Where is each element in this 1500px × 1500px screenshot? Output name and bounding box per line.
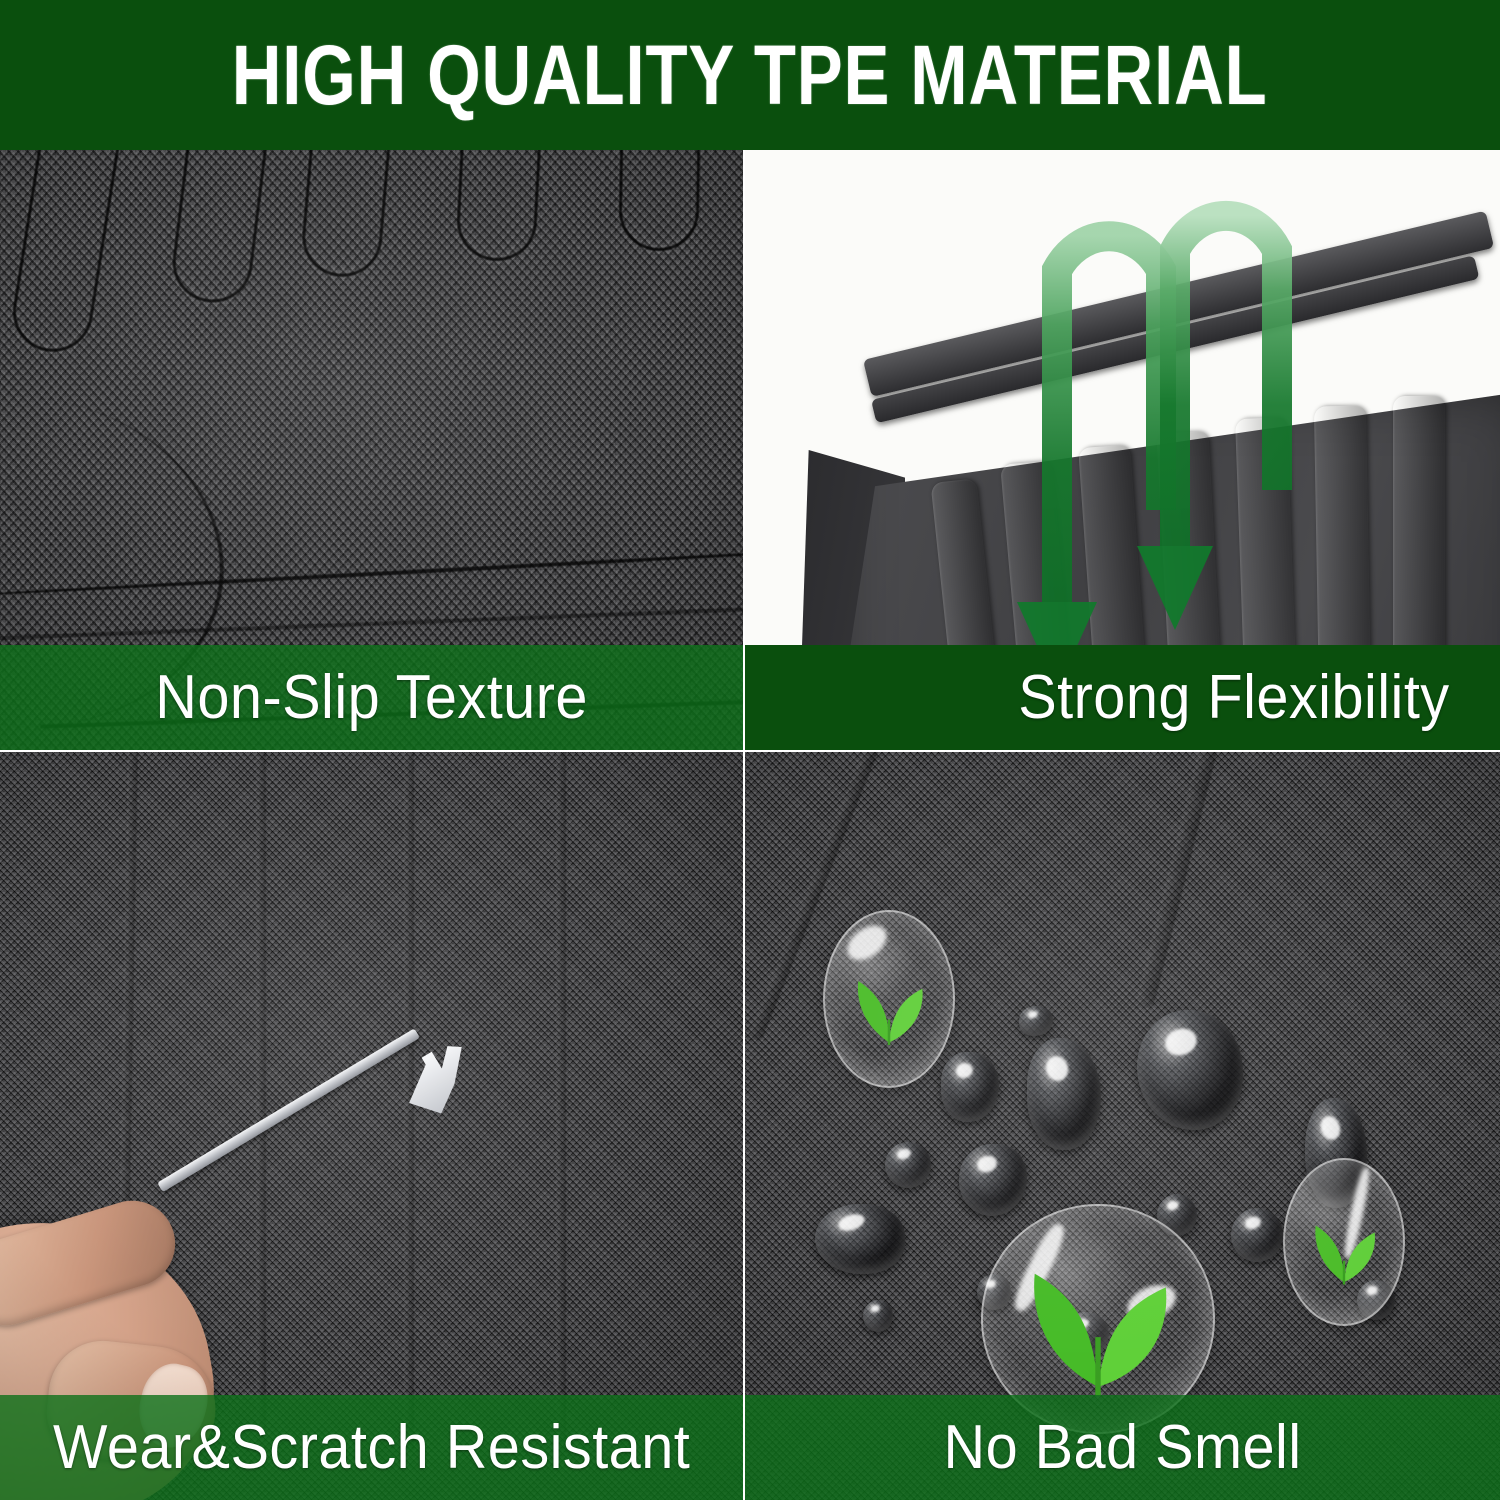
- page-title: HIGH QUALITY TPE MATERIAL: [232, 33, 1268, 117]
- water-droplet: [815, 1204, 905, 1274]
- mat-groove-finger-5: [618, 150, 701, 252]
- water-droplet: [863, 1300, 893, 1332]
- leaf-sprout-icon: [1285, 1160, 1403, 1324]
- mat-ridge-2: [256, 752, 266, 1432]
- caption-label: Non-Slip Texture: [155, 667, 588, 729]
- caption-label: Wear&Scratch Resistant: [53, 1417, 690, 1479]
- caption-label: Strong Flexibility: [1018, 667, 1449, 729]
- caption-label: No Bad Smell: [943, 1417, 1301, 1479]
- leaf-sprout-icon: [825, 912, 953, 1086]
- infographic-sheet: HIGH QUALITY TPE MATERIAL Non-Slip Textu…: [0, 0, 1500, 1500]
- mat-ridge-4: [556, 752, 566, 1452]
- header-banner: HIGH QUALITY TPE MATERIAL: [0, 0, 1500, 150]
- feature-grid: Non-Slip Texture: [0, 150, 1500, 1500]
- caption-bar-wear-scratch-resistant: Wear&Scratch Resistant: [0, 1395, 743, 1500]
- caption-bar-no-bad-smell: No Bad Smell: [745, 1395, 1500, 1500]
- caption-bar-non-slip-texture: Non-Slip Texture: [0, 645, 743, 750]
- panel-wear-scratch-resistant: Wear&Scratch Resistant: [0, 752, 743, 1500]
- panel-non-slip-texture: Non-Slip Texture: [0, 150, 743, 750]
- water-droplet: [885, 1142, 931, 1188]
- panel-strong-flexibility: Strong Flexibility: [745, 150, 1500, 750]
- arrow-left: [1017, 236, 1161, 690]
- panel-no-bad-smell: No Bad Smell: [745, 752, 1500, 1500]
- eco-bubble: [1283, 1158, 1405, 1326]
- caption-bar-strong-flexibility: Strong Flexibility: [745, 645, 1500, 750]
- water-droplet: [1231, 1208, 1283, 1262]
- eco-bubble: [823, 910, 955, 1088]
